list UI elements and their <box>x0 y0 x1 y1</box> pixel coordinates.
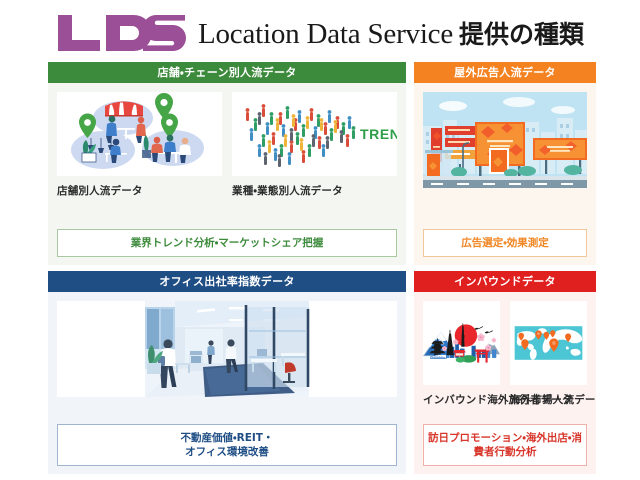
city-billboard-illustration <box>423 92 587 188</box>
caption-store-traffic: 店舗別人流データ <box>57 183 222 198</box>
panel-office-attendance-cells <box>57 301 397 416</box>
panel-inbound-title: インバウンドデータ <box>414 271 596 292</box>
panel-inbound-body: インバウンド海外旅行者データ <box>414 292 596 474</box>
office-interior-illustration <box>57 301 397 397</box>
panel-outdoor-ad-cells <box>423 92 587 221</box>
caption-industry-traffic: 業種・業態別人流データ <box>232 183 397 198</box>
cell-industry-traffic[interactable]: TREND 業種・業態別人流データ <box>232 92 397 221</box>
page-title-en: Location Data Service <box>198 18 453 50</box>
tag-inbound: 訪日プロモーション・海外出店・消費者行動分析 <box>423 424 587 466</box>
caption-overseas-market: 海外市場人流データ <box>510 392 587 407</box>
cell-store-traffic[interactable]: 店舗別人流データ <box>57 92 222 221</box>
tag-outdoor-ad-line1: 広告選定・効果測定 <box>461 237 549 249</box>
page-title: Location Data Service提供の種類 <box>198 15 584 51</box>
cell-inbound-traveler[interactable]: インバウンド海外旅行者データ <box>423 301 500 416</box>
world-map-pins-illustration <box>510 301 587 385</box>
caption-inbound-traveler: インバウンド海外旅行者データ <box>423 392 500 407</box>
tag-store-chain: 業界トレンド分析・マーケットシェア把握 <box>57 229 397 257</box>
japan-landmarks-illustration <box>423 301 500 385</box>
panel-outdoor-ad-title: 屋外広告人流データ <box>414 62 596 83</box>
trend-word-text: TREND <box>360 126 397 142</box>
tag-outdoor-ad: 広告選定・効果測定 <box>423 229 587 257</box>
panel-outdoor-ad-body: 広告選定・効果測定 <box>414 83 596 265</box>
panel-office-attendance-body: 不動産価値・REIT・ オフィス環境改善 <box>48 292 406 474</box>
storefront-people-illustration <box>57 92 222 176</box>
tag-office-attendance-line2: オフィス環境改善 <box>62 445 392 459</box>
tag-store-chain-line1: 業界トレンド分析・マーケットシェア把握 <box>131 237 324 249</box>
panel-inbound: インバウンドデータ <box>414 271 596 474</box>
panel-store-chain: 店舗・チェーン別人流データ <box>48 62 406 265</box>
cell-overseas-market[interactable]: 海外市場人流データ <box>510 301 587 416</box>
page-title-jp: 提供の種類 <box>459 20 584 49</box>
panel-store-chain-cells: 店舗別人流データ <box>57 92 397 221</box>
cell-office-attendance[interactable] <box>57 301 397 416</box>
page-header: Location Data Service提供の種類 <box>0 0 640 60</box>
tag-office-attendance: 不動産価値・REIT・ オフィス環境改善 <box>57 424 397 466</box>
tag-inbound-line1: 訪日プロモーション・海外出店・消費者行動分析 <box>428 432 582 458</box>
panel-store-chain-title: 店舗・チェーン別人流データ <box>48 62 406 83</box>
panel-store-chain-body: 店舗別人流データ <box>48 83 406 265</box>
panel-office-attendance-title: オフィス出社率指数データ <box>48 271 406 292</box>
tag-office-attendance-line1: 不動産価値・REIT・ <box>181 432 274 444</box>
cell-outdoor-ad[interactable] <box>423 92 587 221</box>
panel-office-attendance: オフィス出社率指数データ <box>48 271 406 474</box>
panel-outdoor-ad: 屋外広告人流データ <box>414 62 596 265</box>
panel-grid: 店舗・チェーン別人流データ <box>48 62 596 474</box>
crowd-arrow-trend-illustration: TREND <box>232 92 397 176</box>
lds-logo <box>56 13 188 53</box>
panel-inbound-cells: インバウンド海外旅行者データ <box>423 301 587 416</box>
